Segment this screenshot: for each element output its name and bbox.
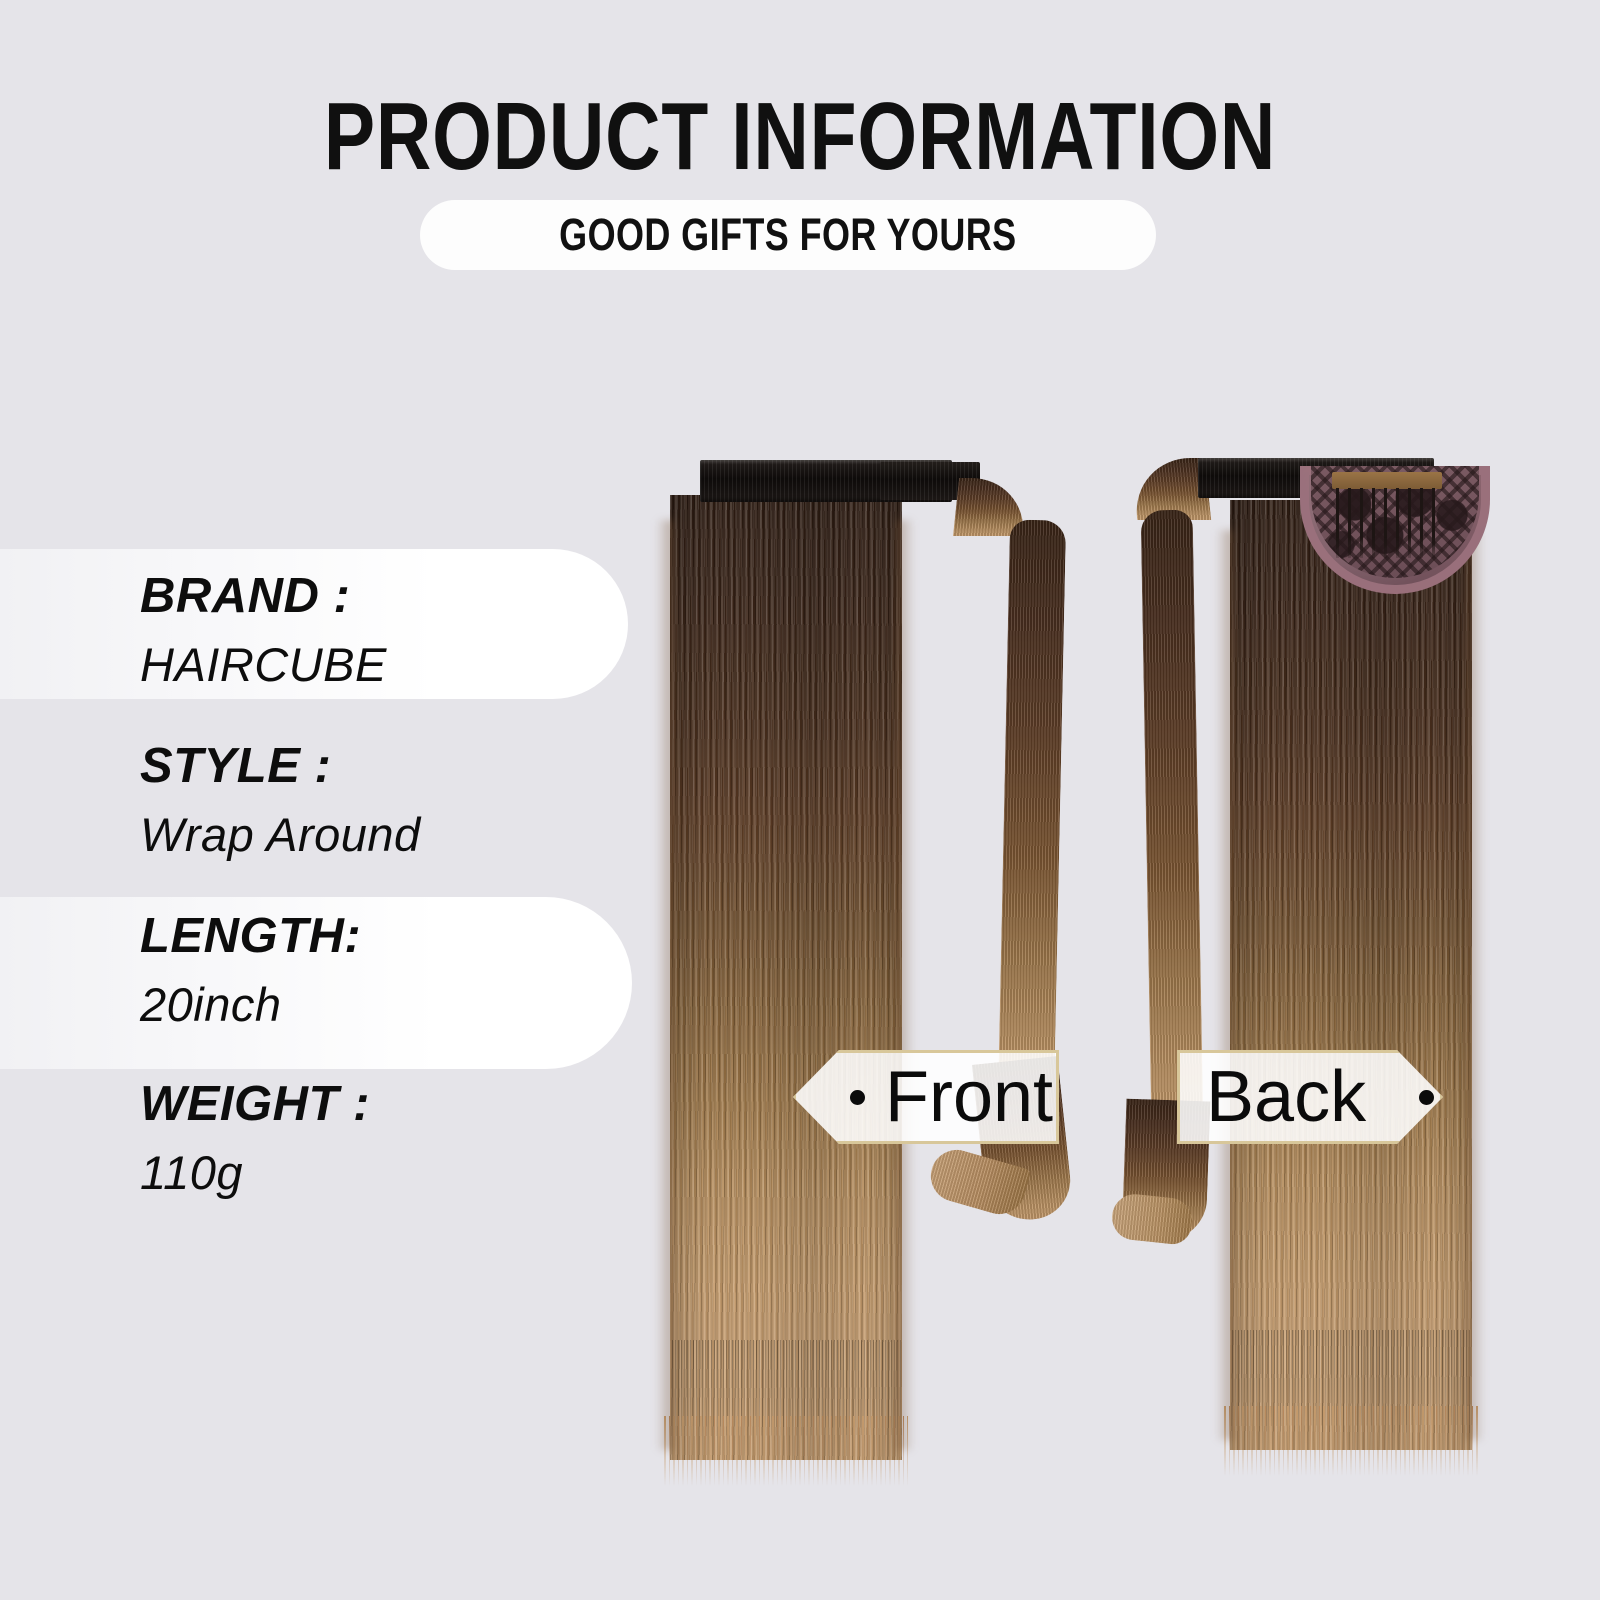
back-comb-clip [1332,472,1442,558]
front-hair-tip [670,1340,902,1460]
back-hair-flyaway-right [1466,530,1484,1440]
front-wrap-strand-body [998,519,1066,1100]
front-hair-feather [664,1416,908,1486]
front-banner-dot [850,1090,865,1105]
back-hair-tip [1230,1330,1472,1450]
back-banner-label: Back [1206,1061,1366,1133]
back-comb-teeth [1336,488,1438,558]
front-banner-label: Front [885,1061,1053,1133]
product-information-graphic: PRODUCT INFORMATION GOOD GIFTS FOR YOURS… [0,0,1600,1600]
back-hair-flyaway-left [1216,530,1234,1440]
subtitle-text: GOOD GIFTS FOR YOURS [559,209,1016,261]
back-hair-body [1230,500,1472,1450]
back-label-banner: Back [1177,1050,1443,1144]
front-hair-flyaway-right [896,520,914,1450]
product-photo-area: Front [600,400,1600,1540]
front-label-banner: Front [793,1050,1059,1144]
front-hair-flyaway-left [656,520,674,1450]
page-title: PRODUCT INFORMATION [160,82,1440,192]
back-wrap-strand-body [1141,510,1204,1131]
back-banner-dot [1419,1090,1434,1105]
back-comb-bar [1332,472,1442,489]
back-hair-feather [1224,1406,1478,1476]
subtitle-pill: GOOD GIFTS FOR YOURS [420,200,1156,270]
front-hair-body [670,495,902,1460]
